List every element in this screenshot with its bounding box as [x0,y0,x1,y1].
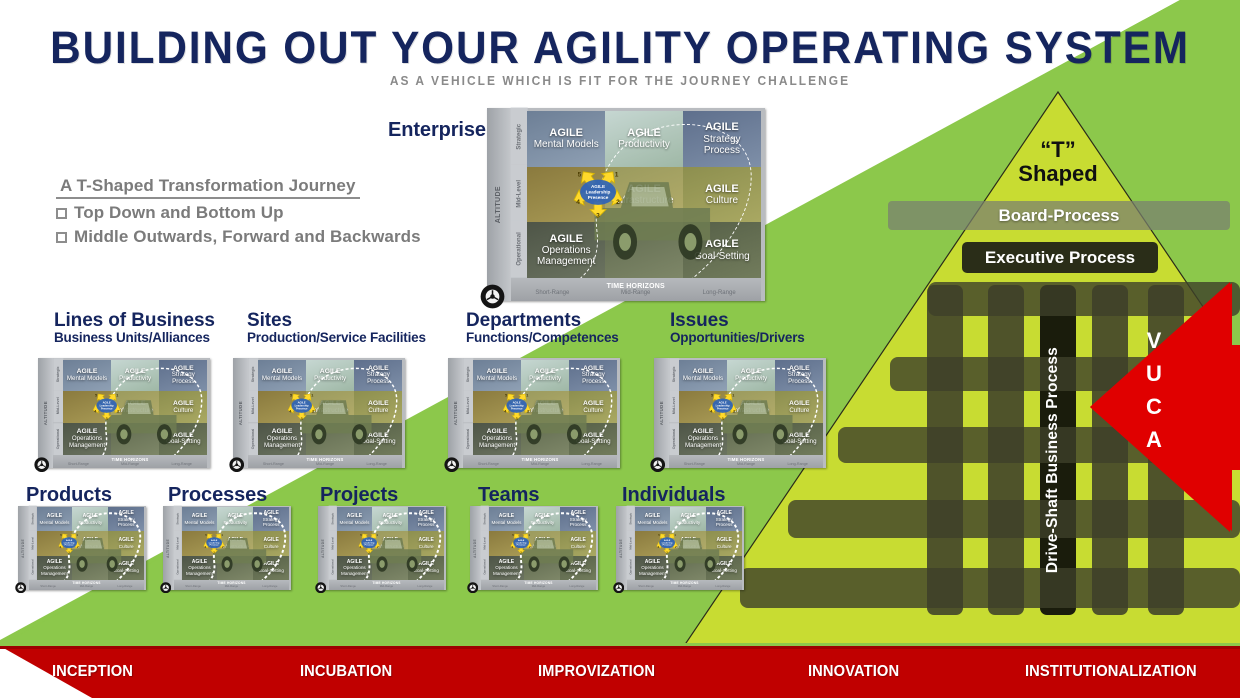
vuca-letter-u: U [1146,363,1162,385]
altitude-axis: ALTITUDE [38,358,53,468]
altitude-level-1: Mid-Level [53,390,63,422]
t-shaped-line1: “T” [958,138,1158,162]
heading-teams: Teams [478,485,539,506]
time-horizon-2: Long-Range [406,585,444,588]
heading-title: Projects [320,485,398,506]
t-shaped-line2: Shaped [958,162,1158,186]
matrix-cell-name: Strategy Process [562,517,595,527]
matrix-cell-name: Goal-Setting [576,439,610,446]
altitude-axis-label: ALTITUDE [238,401,243,425]
vuca-letter-v: V [1147,330,1162,352]
matrix-cell-1: AGILEProductivity [605,111,683,167]
heading-processes: Processes [168,485,267,506]
matrix-cell-6: AGILEOperations Management [473,423,521,455]
wheel-icon [160,582,172,594]
altitude-level-0: Strategic [329,506,337,531]
matrix-cell-name: Culture [789,408,809,415]
agile-matrix-grid: AGILEMental ModelsAGILEProductivityAGILE… [182,507,290,580]
agile-matrix-card-teams[interactable]: ALTITUDEStrategicMid-LevelOperationalAGI… [470,506,598,590]
matrix-cell-4: AGILEInfrastructure [72,531,108,555]
matrix-cell-0: AGILEMental Models [527,111,605,167]
matrix-cell-0: AGILEMental Models [37,507,73,531]
time-horizon-1: Mid-Range [212,585,250,588]
matrix-cell-6: AGILEOperations Management [63,423,111,455]
vuca-letter-c: C [1146,396,1162,418]
matrix-cell-4: AGILEInfrastructure [306,391,354,423]
matrix-cell-0: AGILEMental Models [258,360,306,392]
agile-matrix-card-processes[interactable]: ALTITUDEStrategicMid-LevelOperationalAGI… [163,506,291,590]
time-horizons-axis: TIME HORIZONSShort-RangeMid-RangeLong-Ra… [627,580,742,590]
altitude-axis: ALTITUDE [163,506,174,590]
matrix-cell-name: Productivity [223,520,247,525]
matrix-cell-name: Mental Models [185,520,215,525]
matrix-cell-name: Mental Models [40,520,70,525]
heading-title: Teams [478,485,539,506]
matrix-cell-7 [670,556,706,580]
board-process-bar[interactable]: Board-Process [888,201,1230,230]
heading-subtitle: Production/Service Facilities [247,331,426,346]
altitude-level-0: Strategic [481,506,489,531]
checkbox-icon [56,232,67,243]
matrix-cell-word: AGILE [627,127,661,139]
altitude-level-2: Operational [329,555,337,580]
matrix-cell-name: Goal-Setting [694,251,750,262]
matrix-cell-8: AGILEGoal-Setting [560,556,596,580]
altitude-level-2: Operational [248,423,258,455]
executive-process-bar[interactable]: Executive Process [962,242,1158,273]
altitude-axis-label: ALTITUDE [619,539,623,558]
matrix-cell-8: AGILEGoal-Setting [706,556,742,580]
matrix-cell-8: AGILEGoal-Setting [354,423,402,455]
heading-subtitle: Business Units/Alliances [54,331,215,346]
agile-matrix-card-sites[interactable]: ALTITUDEStrategicMid-LevelOperationalAGI… [233,358,405,468]
altitude-axis: ALTITUDE [318,506,329,590]
matrix-cell-name: Infrastructure [377,544,404,549]
altitude-level-1: Mid-Level [627,531,635,556]
matrix-cell-1: AGILEProductivity [372,507,408,531]
agile-matrix-card-issues[interactable]: ALTITUDEStrategicMid-LevelOperationalAGI… [654,358,826,468]
matrix-cell-name: Culture [119,544,134,549]
agile-matrix-grid: AGILEMental ModelsAGILEProductivityAGILE… [63,360,207,455]
matrix-cell-7 [72,556,108,580]
stage-label-incubation: INCUBATION [300,663,392,681]
altitude-axis: ALTITUDE [470,506,481,590]
matrix-cell-6: AGILEOperations Management [489,556,525,580]
matrix-cell-name: Strategy Process [708,517,741,527]
matrix-cell-6: AGILEOperations Management [258,423,306,455]
heading-title: Individuals [622,485,725,506]
matrix-cell-name: Goal-Setting [258,568,284,573]
altitude-level-0: Strategic [248,358,258,390]
matrix-cell-name: Infrastructure [733,408,769,415]
matrix-cell-1: AGILEProductivity [72,507,108,531]
wheel-icon [15,582,27,594]
altitude-level-2: Operational [53,423,63,455]
altitude-level-0: Strategic [174,506,182,531]
matrix-cell-5: AGILECulture [354,391,402,423]
matrix-cell-name: Operations Management [530,245,602,267]
heading-products: Products [26,485,112,506]
journey-item-1: Middle Outwards, Forward and Backwards [56,227,421,247]
journey-item-label: Top Down and Bottom Up [74,203,284,223]
matrix-cell-name: Culture [717,544,732,549]
time-horizons-levels: Short-RangeMid-RangeLong-Range [53,462,208,466]
agile-matrix-card-products[interactable]: ALTITUDEStrategicMid-LevelOperationalAGI… [18,506,146,590]
matrix-cell-name: Goal-Setting [782,439,816,446]
time-horizon-0: Short-Range [329,585,367,588]
matrix-cell-name: Strategy Process [161,372,205,386]
matrix-cell-7 [605,222,683,278]
matrix-cell-0: AGILEMental Models [63,360,111,392]
matrix-cell-8: AGILEGoal-Setting [108,556,144,580]
matrix-cell-name: Operations Management [338,565,371,575]
time-horizon-0: Short-Range [53,462,105,466]
time-horizons-levels: Short-RangeMid-RangeLong-Range [669,462,824,466]
time-horizons-levels: Short-RangeMid-RangeLong-Range [511,290,761,296]
matrix-cell-5: AGILECulture [159,391,207,423]
matrix-cell-word: AGILE [549,127,583,139]
altitude-level-0: Strategic [463,358,473,390]
matrix-cell-name: Mental Models [683,376,723,383]
checkbox-icon [56,208,67,219]
matrix-cell-3 [37,531,73,555]
matrix-cell-5: AGILECulture [569,391,617,423]
matrix-cell-name: Strategy Process [686,134,758,156]
matrix-cell-name: Goal-Setting [711,568,737,573]
matrix-cell-name: Culture [583,408,603,415]
matrix-cell-name: Mental Models [340,520,370,525]
time-horizons-levels: Short-RangeMid-RangeLong-Range [248,462,403,466]
heading-title: Departments [466,311,619,331]
time-horizon-1: Mid-Range [367,585,405,588]
matrix-cell-name: Infrastructure [222,544,249,549]
altitude-axis-label: ALTITUDE [166,539,170,558]
altitude-levels: StrategicMid-LevelOperational [53,358,63,455]
matrix-cell-1: AGILEProductivity [217,507,253,531]
wheel-icon [613,582,625,594]
heading-title: Processes [168,485,267,506]
matrix-cell-8: AGILEGoal-Setting [408,556,444,580]
matrix-cell-word: AGILE [705,238,739,250]
matrix-cell-3 [258,391,306,423]
journey-item-0: Top Down and Bottom Up [56,203,421,223]
heading-departments: Departments Functions/Competences [466,311,619,346]
matrix-cell-0: AGILEMental Models [473,360,521,392]
heading-title: Products [26,485,112,506]
wheel-icon [34,457,49,472]
journey-item-label: Middle Outwards, Forward and Backwards [74,227,421,247]
time-horizon-2: Long-Range [251,585,289,588]
altitude-level-2: Operational [481,555,489,580]
altitude-level-2: Operational [29,555,37,580]
altitude-level-1: Mid-Level [463,390,473,422]
agile-matrix-grid: AGILEMental ModelsAGILEProductivityAGILE… [473,360,617,455]
matrix-cell-name: Culture [264,544,279,549]
matrix-cell-name: Mental Models [638,520,668,525]
matrix-cell-7 [111,423,159,455]
matrix-cell-3 [473,391,521,423]
time-horizons-axis: TIME HORIZONSShort-RangeMid-RangeLong-Ra… [669,455,824,468]
matrix-cell-3 [489,531,525,555]
matrix-cell-3 [182,531,218,555]
altitude-levels: StrategicMid-LevelOperational [481,506,489,580]
matrix-cell-name: Productivity [530,520,554,525]
time-horizons-axis: TIME HORIZONSShort-RangeMid-RangeLong-Ra… [174,580,289,590]
time-horizons-label: TIME HORIZONS [607,283,665,290]
matrix-cell-3 [527,167,605,223]
wheel-icon [315,582,327,594]
matrix-cell-3 [635,531,671,555]
matrix-cell-name: Productivity [119,376,151,383]
altitude-axis-label: ALTITUDE [321,539,325,558]
heading-subtitle: Functions/Competences [466,331,619,346]
journey-block: A T-Shaped Transformation Journey Top Do… [56,176,421,247]
matrix-cell-name: Operations Management [260,436,304,450]
time-horizon-2: Long-Range [156,462,208,466]
matrix-cell-0: AGILEMental Models [489,507,525,531]
matrix-cell-8: AGILEGoal-Setting [569,423,617,455]
matrix-cell-2: AGILEStrategy Process [775,360,823,392]
time-horizon-1: Mid-Range [104,462,156,466]
matrix-cell-name: Productivity [618,139,670,150]
matrix-cell-word: AGILE [705,121,739,133]
matrix-cell-name: Culture [706,195,738,206]
altitude-levels: StrategicMid-LevelOperational [463,358,473,455]
time-horizons-axis: TIME HORIZONSShort-RangeMid-RangeLong-Ra… [29,580,144,590]
agile-matrix-grid: AGILEMental ModelsAGILEProductivityAGILE… [258,360,402,455]
matrix-cell-name: Strategy Process [410,517,443,527]
matrix-cell-name: Operations Management [490,565,523,575]
altitude-axis-label: ALTITUDE [659,401,664,425]
t-shaped-label: “T” Shaped [958,138,1158,186]
matrix-cell-2: AGILEStrategy Process [159,360,207,392]
drive-shaft-text: Drive-Shaft Business Process [1044,347,1062,573]
altitude-axis-label: ALTITUDE [43,401,48,425]
matrix-cell-5: AGILECulture [560,531,596,555]
matrix-cell-4: AGILEInfrastructure [605,167,683,223]
time-horizon-0: Short-Range [669,462,721,466]
matrix-cell-4: AGILEInfrastructure [521,391,569,423]
agile-matrix-grid: AGILEMental ModelsAGILEProductivityAGILE… [337,507,445,580]
time-horizons-axis: TIME HORIZONSShort-RangeMid-RangeLong-Ra… [53,455,208,468]
time-horizon-0: Short-Range [248,462,300,466]
altitude-levels: StrategicMid-LevelOperational [329,506,337,580]
altitude-level-0: Strategic [511,108,528,165]
matrix-cell-name: Mental Models [67,376,107,383]
matrix-cell-7 [217,556,253,580]
altitude-axis: ALTITUDE [654,358,669,468]
matrix-cell-7 [524,556,560,580]
matrix-cell-2: AGILEStrategy Process [253,507,289,531]
stage-label-institutionalization: INSTITUTIONALIZATION [1025,663,1197,681]
matrix-cell-8: AGILEGoal-Setting [159,423,207,455]
stage-label-improvization: IMPROVIZATION [538,663,655,681]
time-horizons-levels: Short-RangeMid-RangeLong-Range [174,585,289,588]
time-horizons-levels: Short-RangeMid-RangeLong-Range [463,462,618,466]
matrix-cell-6: AGILEOperations Management [37,556,73,580]
agile-matrix-grid: AGILEMental ModelsAGILEProductivityAGILE… [527,111,761,278]
matrix-cell-name: Strategy Process [571,372,615,386]
agile-matrix-card-departments[interactable]: ALTITUDEStrategicMid-LevelOperationalAGI… [448,358,620,468]
matrix-cell-name: Strategy Process [356,372,400,386]
agile-matrix-grid: AGILEMental ModelsAGILEProductivityAGILE… [679,360,823,455]
heading-projects: Projects [320,485,398,506]
matrix-cell-4: AGILEInfrastructure [670,531,706,555]
time-horizons-levels: Short-RangeMid-RangeLong-Range [627,585,742,588]
matrix-cell-4: AGILEInfrastructure [524,531,560,555]
matrix-cell-name: Goal-Setting [413,568,439,573]
time-horizon-1: Mid-Range [299,462,351,466]
matrix-cell-1: AGILEProductivity [670,507,706,531]
agile-matrix-grid: AGILEMental ModelsAGILEProductivityAGILE… [635,507,743,580]
time-horizon-2: Long-Range [677,290,760,296]
time-horizon-2: Long-Range [704,585,742,588]
matrix-cell-0: AGILEMental Models [337,507,373,531]
matrix-cell-1: AGILEProductivity [306,360,354,392]
drive-shaft-business-process-label: Drive-Shaft Business Process [1041,315,1065,605]
altitude-level-0: Strategic [669,358,679,390]
altitude-level-0: Strategic [29,506,37,531]
altitude-axis: ALTITUDE [448,358,463,468]
time-horizon-0: Short-Range [511,290,594,296]
vuca-label: V U C A [1146,330,1162,451]
time-horizon-0: Short-Range [627,585,665,588]
altitude-levels: StrategicMid-LevelOperational [174,506,182,580]
altitude-axis: ALTITUDE [18,506,29,590]
time-horizon-1: Mid-Range [519,585,557,588]
matrix-cell-2: AGILEStrategy Process [408,507,444,531]
matrix-cell-4: AGILEInfrastructure [217,531,253,555]
matrix-cell-word: AGILE [549,233,583,245]
time-horizons-axis: TIME HORIZONSShort-RangeMid-RangeLong-Ra… [329,580,444,590]
altitude-level-1: Mid-Level [329,531,337,556]
matrix-cell-name: Infrastructure [77,544,104,549]
agile-matrix-card-enterprise[interactable]: ALTITUDEStrategicMid-LevelOperationalAGI… [487,108,765,301]
matrix-cell-5: AGILECulture [108,531,144,555]
time-horizon-2: Long-Range [772,462,824,466]
altitude-axis-label: ALTITUDE [495,186,502,223]
matrix-cell-name: Mental Models [492,520,522,525]
matrix-cell-name: Culture [571,544,586,549]
vuca-letter-a: A [1146,429,1162,451]
matrix-cell-7 [521,423,569,455]
altitude-level-0: Strategic [627,506,635,531]
matrix-cell-8: AGILEGoal-Setting [775,423,823,455]
matrix-cell-name: Infrastructure [529,544,556,549]
time-horizon-2: Long-Range [566,462,618,466]
matrix-cell-1: AGILEProductivity [727,360,775,392]
altitude-axis-label: ALTITUDE [21,539,25,558]
matrix-cell-name: Productivity [314,376,346,383]
matrix-cell-5: AGILECulture [253,531,289,555]
agile-matrix-card-projects[interactable]: ALTITUDEStrategicMid-LevelOperationalAGI… [318,506,446,590]
altitude-level-2: Operational [463,423,473,455]
journey-heading: A T-Shaped Transformation Journey [56,176,360,199]
altitude-level-1: Mid-Level [511,165,528,222]
matrix-cell-word: AGILE [627,183,661,195]
matrix-cell-name: Culture [173,408,193,415]
time-horizons-axis: TIME HORIZONSShort-RangeMid-RangeLong-Ra… [511,278,761,301]
time-horizon-1: Mid-Range [720,462,772,466]
matrix-cell-6: AGILEOperations Management [679,423,727,455]
matrix-cell-name: Productivity [78,520,102,525]
matrix-cell-name: Infrastructure [527,408,563,415]
heading-lines-of-business: Lines of Business Business Units/Allianc… [54,311,215,346]
time-horizon-2: Long-Range [558,585,596,588]
matrix-cell-name: Strategy Process [110,517,143,527]
infographic-slide: BUILDING OUT YOUR AGILITY OPERATING SYST… [0,0,1240,698]
time-horizon-0: Short-Range [29,585,67,588]
matrix-cell-5: AGILECulture [775,391,823,423]
matrix-cell-2: AGILEStrategy Process [108,507,144,531]
matrix-cell-0: AGILEMental Models [182,507,218,531]
matrix-cell-7 [306,423,354,455]
matrix-cell-name: Goal-Setting [166,439,200,446]
matrix-cell-name: Operations Management [475,436,519,450]
matrix-cell-name: Strategy Process [255,517,288,527]
time-horizon-2: Long-Range [106,585,144,588]
heading-title: Sites [247,311,426,331]
altitude-level-1: Mid-Level [481,531,489,556]
matrix-cell-1: AGILEProductivity [521,360,569,392]
matrix-cell-1: AGILEProductivity [524,507,560,531]
agile-matrix-grid: AGILEMental ModelsAGILEProductivityAGILE… [37,507,145,580]
wheel-icon [229,457,244,472]
altitude-axis-label: ALTITUDE [473,539,477,558]
matrix-cell-name: Operations Management [65,436,109,450]
altitude-levels: StrategicMid-LevelOperational [511,108,528,278]
heading-title: Lines of Business [54,311,215,331]
time-horizon-0: Short-Range [481,585,519,588]
time-horizon-2: Long-Range [351,462,403,466]
matrix-cell-4: AGILEInfrastructure [727,391,775,423]
matrix-cell-name: Goal-Setting [565,568,591,573]
matrix-cell-6: AGILEOperations Management [527,222,605,278]
altitude-axis: ALTITUDE [487,108,511,301]
matrix-cell-name: Productivity [676,520,700,525]
matrix-cell-3 [337,531,373,555]
matrix-cell-6: AGILEOperations Management [182,556,218,580]
heading-enterprise: Enterprise [388,120,486,141]
matrix-cell-1: AGILEProductivity [111,360,159,392]
altitude-axis: ALTITUDE [616,506,627,590]
matrix-cell-name: Operations Management [183,565,216,575]
page-subtitle: AS A VEHICLE WHICH IS FIT FOR THE JOURNE… [50,73,1191,88]
altitude-level-2: Operational [174,555,182,580]
wheel-icon [467,582,479,594]
matrix-cell-name: Productivity [378,520,402,525]
matrix-cell-name: Mental Models [534,139,599,150]
agile-matrix-card-lines-of-business[interactable]: ALTITUDEStrategicMid-LevelOperationalAGI… [38,358,210,468]
matrix-cell-0: AGILEMental Models [679,360,727,392]
altitude-level-0: Strategic [53,358,63,390]
agile-matrix-grid: AGILEMental ModelsAGILEProductivityAGILE… [489,507,597,580]
heading-subtitle: Opportunities/Drivers [670,331,805,346]
matrix-cell-name: Infrastructure [312,408,348,415]
wheel-icon [480,284,505,309]
altitude-level-2: Operational [669,423,679,455]
page-title: BUILDING OUT YOUR AGILITY OPERATING SYST… [37,22,1203,74]
time-horizon-1: Mid-Range [665,585,703,588]
matrix-cell-word: AGILE [705,183,739,195]
altitude-level-1: Mid-Level [669,390,679,422]
matrix-cell-5: AGILECulture [706,531,742,555]
matrix-cell-name: Operations Management [38,565,71,575]
matrix-cell-name: Culture [368,408,388,415]
agile-matrix-card-individuals[interactable]: ALTITUDEStrategicMid-LevelOperationalAGI… [616,506,744,590]
matrix-cell-6: AGILEOperations Management [635,556,671,580]
altitude-levels: StrategicMid-LevelOperational [248,358,258,455]
